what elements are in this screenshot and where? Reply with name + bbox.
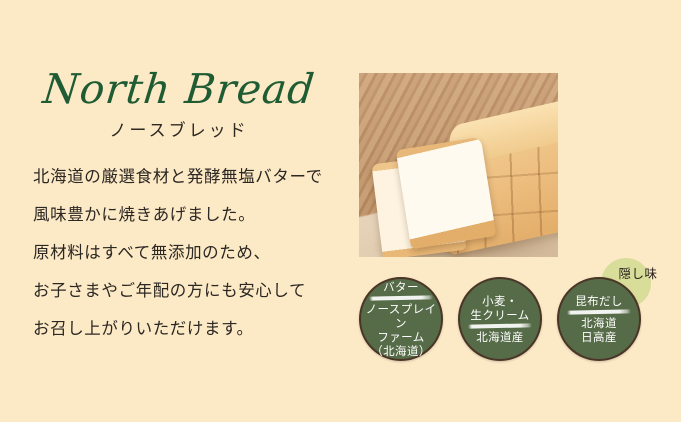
badge-butter-content: バター ノースプレイン ファーム （北海道） bbox=[361, 279, 441, 359]
bread-slice-front bbox=[396, 137, 497, 249]
badge-kombu-dashi-content: 昆布だし 北海道 日高産 bbox=[559, 279, 639, 359]
badge-wheat-cream: 小麦・ 生クリーム 北海道産 bbox=[458, 277, 542, 361]
brush-divider-icon bbox=[468, 323, 532, 328]
badge-butter: バター ノースプレイン ファーム （北海道） bbox=[359, 277, 443, 361]
brand-subtitle: ノースブレッド bbox=[34, 116, 324, 141]
badge-kombu-dashi-origin: 北海道 日高産 bbox=[581, 316, 617, 344]
description-line-2: 風味豊かに焼きあげました。 bbox=[33, 196, 353, 234]
badge-butter-title: バター bbox=[383, 280, 419, 294]
brand-title: North Bread bbox=[32, 66, 327, 112]
text-column: North Bread ノースブレッド 北海道の厳選食材と発酵無塩バターで 風味… bbox=[0, 0, 350, 422]
description-line-4: お子さまやご年配の方にも安心して bbox=[33, 272, 353, 310]
product-card: North Bread ノースブレッド 北海道の厳選食材と発酵無塩バターで 風味… bbox=[0, 0, 681, 422]
brush-divider-icon bbox=[369, 295, 433, 300]
brush-divider-icon bbox=[567, 309, 631, 314]
badge-butter-origin: ノースプレイン ファーム （北海道） bbox=[364, 302, 438, 358]
description-line-3: 原材料はすべて無添加のため、 bbox=[33, 234, 353, 272]
badge-wheat-cream-content: 小麦・ 生クリーム 北海道産 bbox=[460, 279, 540, 359]
description-line-1: 北海道の厳選食材と発酵無塩バターで bbox=[33, 158, 353, 196]
description-text: 北海道の厳選食材と発酵無塩バターで 風味豊かに焼きあげました。 原材料はすべて無… bbox=[33, 158, 353, 348]
bread-photo bbox=[359, 73, 558, 257]
badge-wheat-cream-title: 小麦・ 生クリーム bbox=[470, 294, 529, 322]
badge-kombu-dashi: 昆布だし 北海道 日高産 bbox=[557, 277, 641, 361]
badge-wheat-cream-origin: 北海道産 bbox=[476, 330, 524, 344]
description-line-5: お召し上がりいただけます。 bbox=[33, 310, 353, 348]
badge-kombu-dashi-title: 昆布だし bbox=[575, 294, 623, 308]
